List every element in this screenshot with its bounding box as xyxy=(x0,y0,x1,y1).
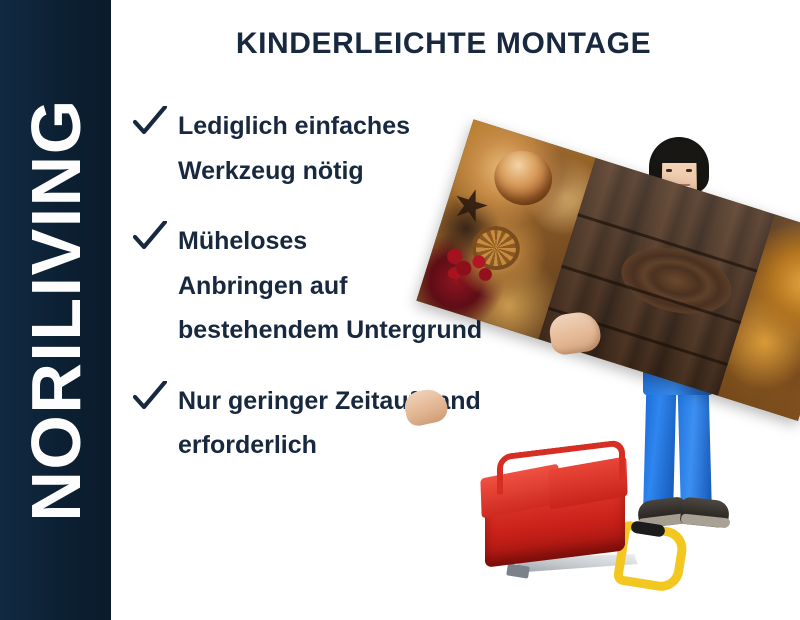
brand-sidebar: NORILIVING xyxy=(0,0,111,620)
brand-name: NORILIVING xyxy=(21,98,91,521)
person-eye-left xyxy=(666,169,672,172)
person-eye-right xyxy=(686,169,692,172)
apple-motif xyxy=(487,144,559,213)
toolbox xyxy=(481,441,671,591)
star-anise-motif xyxy=(449,184,492,227)
check-icon xyxy=(133,106,167,136)
check-icon xyxy=(133,381,167,411)
wood-panel-knot xyxy=(615,238,738,324)
page-title: KINDERLEICHTE MONTAGE xyxy=(111,27,776,60)
product-photo xyxy=(455,95,800,620)
promo-poster: NORILIVING KINDERLEICHTE MONTAGE Ledigli… xyxy=(0,0,800,620)
saw-blade-tip xyxy=(506,563,530,578)
wood-panel-surface xyxy=(416,119,800,420)
person-hair-fringe xyxy=(655,141,703,163)
wood-panel xyxy=(416,119,800,420)
check-icon xyxy=(133,221,167,251)
